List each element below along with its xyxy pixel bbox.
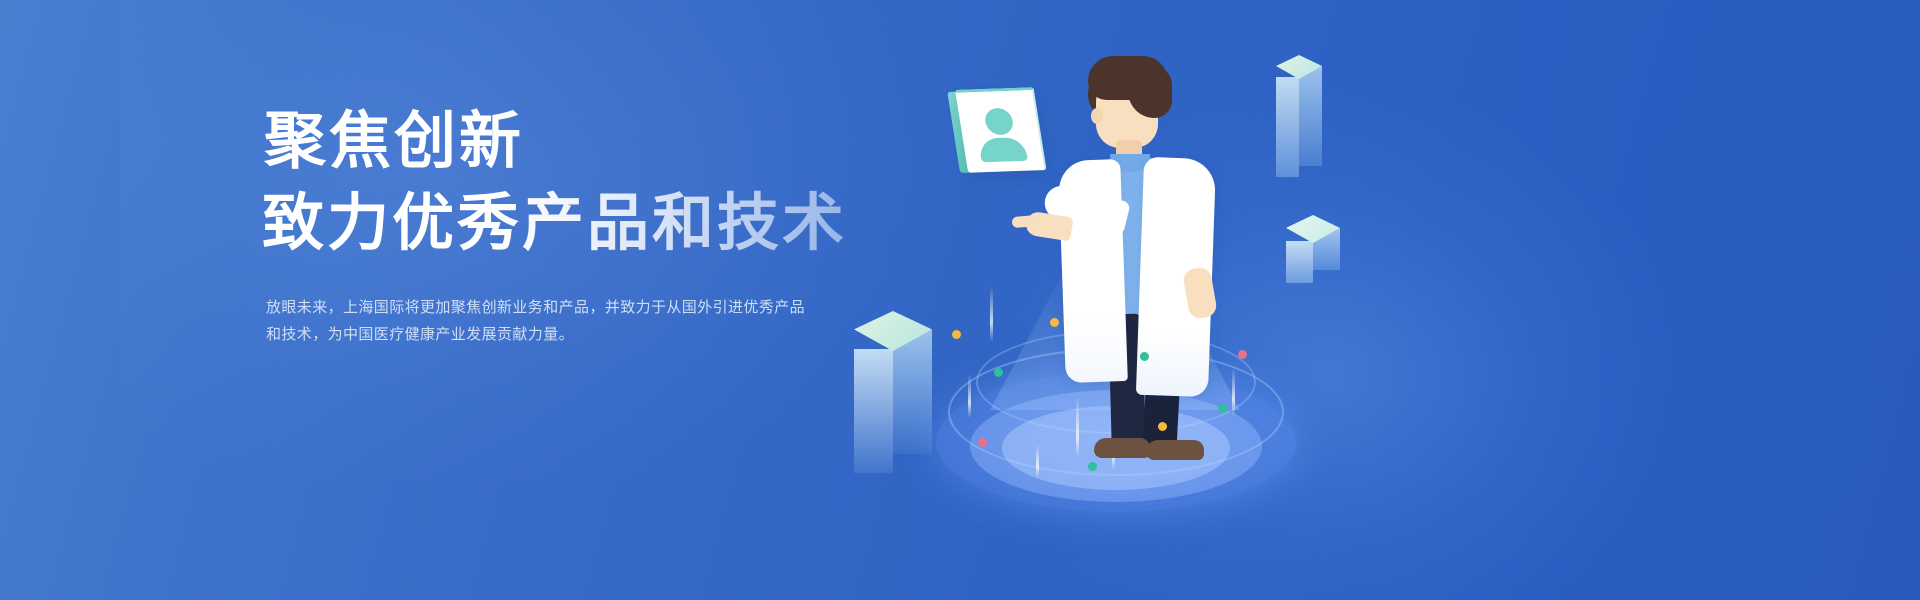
light-streak — [990, 286, 993, 342]
doctor-ear — [1091, 108, 1103, 124]
podium-dot — [1238, 350, 1247, 359]
podium-dot — [1088, 462, 1097, 471]
floating-bar-left-icon — [854, 330, 932, 480]
podium-dot — [1050, 318, 1059, 327]
floating-bar-tall-right-icon — [1276, 66, 1322, 186]
headline-line-1: 聚焦创新 — [264, 104, 902, 178]
podium-dot — [1140, 352, 1149, 361]
light-streak — [968, 374, 971, 418]
bar-face-right — [1299, 66, 1322, 166]
bar-face-right — [893, 330, 932, 454]
user-avatar-icon-body — [978, 137, 1028, 162]
promo-banner: 聚焦创新 致力优秀产品和技术 放眼未来，上海国际将更加聚焦创新业务和产品，并致力… — [0, 0, 1920, 600]
user-avatar-icon-head — [983, 108, 1014, 136]
bar-face-left — [854, 349, 893, 473]
subtitle-line-1: 放眼未来，上海国际将更加聚焦创新业务和产品，并致力于从国外引进优秀产品 — [266, 294, 866, 321]
doctor-figure — [1036, 56, 1276, 466]
banner-copy-block: 聚焦创新 致力优秀产品和技术 放眼未来，上海国际将更加聚焦创新业务和产品，并致力… — [262, 104, 902, 348]
podium-dot — [1158, 422, 1167, 431]
hero-illustration — [840, 0, 1920, 600]
podium-dot — [1218, 404, 1227, 413]
id-card-icon — [947, 87, 1047, 175]
banner-subtitle: 放眼未来，上海国际将更加聚焦创新业务和产品，并致力于从国外引进优秀产品 和技术，… — [266, 294, 866, 348]
headline-line-2: 致力优秀产品和技术 — [262, 186, 902, 260]
doctor-shoe-right — [1146, 440, 1204, 460]
floating-bar-small-right-icon — [1286, 228, 1340, 290]
podium-dot — [994, 368, 1003, 377]
doctor-shoe-left — [1094, 438, 1150, 458]
id-card-face — [955, 87, 1047, 173]
podium-dot — [952, 330, 961, 339]
subtitle-line-2: 和技术，为中国医疗健康产业发展贡献力量。 — [266, 321, 866, 348]
bar-face-left — [1276, 77, 1299, 177]
podium-dot — [978, 438, 987, 447]
bar-face-left — [1286, 241, 1313, 283]
